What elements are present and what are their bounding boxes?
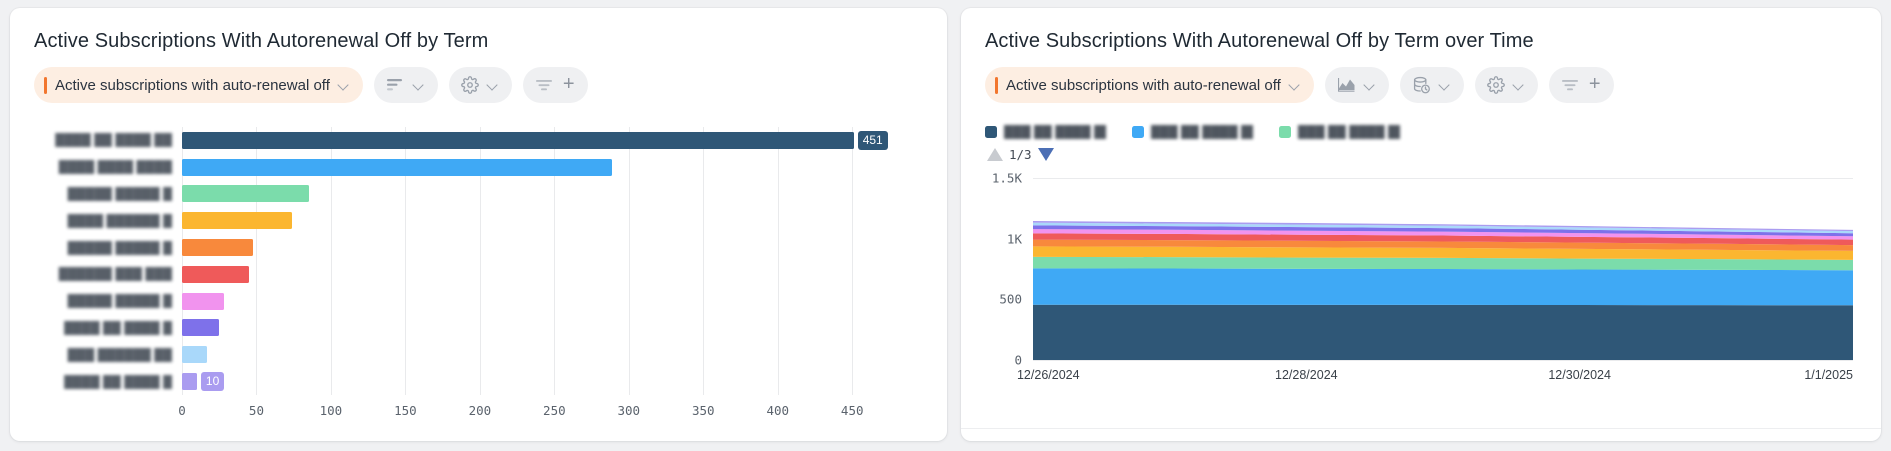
bar[interactable] — [182, 212, 292, 229]
page-title: Active Subscriptions With Autorenewal Of… — [10, 8, 947, 53]
bar[interactable] — [182, 266, 249, 283]
card-divider — [961, 428, 1881, 429]
plus-icon: + — [563, 74, 575, 94]
triangle-down-icon[interactable] — [1038, 148, 1054, 161]
bar-category-label: ██████ ███ ███ — [42, 267, 172, 281]
chevron-down-icon — [338, 79, 350, 91]
x-axis-tick-label: 250 — [543, 403, 566, 418]
dashboard-root: Active Subscriptions With Autorenewal Of… — [0, 0, 1891, 451]
bar[interactable] — [182, 159, 612, 176]
legend-item[interactable]: ███ ██ ████ ███ — [985, 125, 1106, 139]
legend-swatch — [985, 126, 997, 138]
area-chart-card: Active Subscriptions With Autorenewal Of… — [961, 8, 1881, 441]
area-chart-plot-area: 05001K1.5K — [1033, 178, 1853, 360]
x-axis-tick-label: 12/28/2024 — [1275, 368, 1338, 382]
metric-selector[interactable]: Active subscriptions with auto-renewal o… — [34, 67, 363, 103]
bar-row[interactable]: █████ █████ █ — [182, 181, 882, 208]
bar-category-label: ████ ██ ████ █ — [42, 375, 172, 389]
bar[interactable] — [182, 293, 224, 310]
plus-icon: + — [1589, 74, 1601, 94]
filter-icon — [535, 78, 553, 92]
bar[interactable] — [182, 185, 309, 202]
x-axis-tick-label: 350 — [692, 403, 715, 418]
chevron-down-icon — [1289, 79, 1301, 91]
bar-row[interactable]: █████ █████ █ — [182, 288, 882, 315]
y-axis-tick-label: 0 — [1014, 353, 1022, 368]
bar-value-label: 10 — [201, 372, 224, 391]
bar-chart-x-axis: 050100150200250300350400450 — [182, 403, 882, 425]
bar[interactable] — [182, 373, 197, 390]
x-axis-tick-label: 0 — [178, 403, 186, 418]
chevron-down-icon — [413, 79, 425, 91]
bar-category-label: █████ █████ █ — [42, 187, 172, 201]
x-axis-tick-label: 300 — [618, 403, 641, 418]
gear-icon — [1487, 76, 1505, 94]
bar-category-label: ████ ██████ █ — [42, 214, 172, 228]
bar-category-label: ████ ████ ████ — [42, 160, 172, 174]
add-filter-button[interactable]: + — [1549, 67, 1614, 103]
legend-label: ███ ██ ████ ███ — [1004, 125, 1106, 139]
chevron-down-icon — [1364, 79, 1376, 91]
legend-swatch — [1279, 126, 1291, 138]
area-chart-x-axis: 12/26/202412/28/202412/30/20241/1/2025 — [1033, 368, 1853, 390]
chart-type-selector[interactable] — [1325, 67, 1389, 103]
gear-icon — [461, 76, 479, 94]
area-series-series-2[interactable] — [1033, 268, 1853, 305]
legend-label: ███ ██ ████ ███ — [1151, 125, 1253, 139]
bar-category-label: █████ █████ █ — [42, 241, 172, 255]
database-clock-icon — [1412, 76, 1431, 95]
chevron-down-icon — [1513, 79, 1525, 91]
metric-label: Active subscriptions with auto-renewal o… — [1006, 77, 1281, 94]
chevron-down-icon — [1439, 79, 1451, 91]
time-grain-selector[interactable] — [1400, 67, 1464, 103]
x-axis-tick-label: 1/1/2025 — [1804, 368, 1853, 382]
bar-chart-plot-area: ████ ██ ████ ██451████ ████ █████████ ██… — [182, 127, 882, 395]
bar-row[interactable]: ████ ██ ████ ██451 — [182, 127, 882, 154]
y-axis-tick-label: 1.5K — [992, 171, 1022, 186]
bar-chart-card: Active Subscriptions With Autorenewal Of… — [10, 8, 947, 441]
metric-selector[interactable]: Active subscriptions with auto-renewal o… — [985, 67, 1314, 103]
area-series-series-1[interactable] — [1033, 305, 1853, 360]
bar-chart: ████ ██ ████ ██451████ ████ █████████ ██… — [10, 119, 947, 419]
chevron-down-icon — [487, 79, 499, 91]
bar[interactable] — [182, 319, 219, 336]
bar-row[interactable]: ████ ██████ █ — [182, 207, 882, 234]
x-axis-tick-label: 50 — [249, 403, 264, 418]
x-axis-tick-label: 150 — [394, 403, 417, 418]
triangle-up-icon[interactable] — [987, 148, 1003, 161]
filter-icon — [1561, 78, 1579, 92]
bar-row[interactable]: █████ █████ █ — [182, 234, 882, 261]
bar[interactable] — [182, 132, 854, 149]
add-filter-button[interactable]: + — [523, 67, 588, 103]
bar-category-label: █████ █████ █ — [42, 294, 172, 308]
chart-type-selector[interactable] — [374, 67, 438, 103]
bar[interactable] — [182, 239, 253, 256]
bar-category-label: ████ ██ ████ █ — [42, 321, 172, 335]
area-chart: 05001K1.5K 12/26/202412/28/202412/30/202… — [961, 170, 1881, 400]
legend-label: ███ ██ ████ ███ — [1298, 125, 1400, 139]
bar-row[interactable]: ████ ██ ████ █ — [182, 315, 882, 342]
gridline: 0 — [1033, 360, 1853, 361]
bar-row[interactable]: ████ ████ ████ — [182, 154, 882, 181]
x-axis-tick-label: 12/30/2024 — [1548, 368, 1611, 382]
pager-count: 1/3 — [1009, 147, 1032, 162]
legend-pager: 1/3 — [961, 139, 1881, 162]
bar-category-label: ████ ██ ████ ██ — [42, 133, 172, 147]
bar[interactable] — [182, 346, 207, 363]
legend-swatch — [1132, 126, 1144, 138]
bar-row[interactable]: ██████ ███ ███ — [182, 261, 882, 288]
left-toolbar: Active subscriptions with auto-renewal o… — [10, 53, 947, 103]
bar-chart-rows: ████ ██ ████ ██451████ ████ █████████ ██… — [182, 127, 882, 395]
x-axis-tick-label: 450 — [841, 403, 864, 418]
x-axis-tick-label: 100 — [320, 403, 343, 418]
metric-label: Active subscriptions with auto-renewal o… — [55, 77, 330, 94]
bar-row[interactable]: ███ ██████ ██ — [182, 341, 882, 368]
x-axis-tick-label: 12/26/2024 — [1017, 368, 1080, 382]
legend-item[interactable]: ███ ██ ████ ███ — [1279, 125, 1400, 139]
chart-legend: ███ ██ ████ ██████ ██ ████ ██████ ██ ███… — [961, 103, 1881, 139]
bar-value-label: 451 — [858, 131, 888, 150]
right-toolbar: Active subscriptions with auto-renewal o… — [961, 53, 1881, 103]
metric-color-marker — [44, 77, 47, 94]
page-title: Active Subscriptions With Autorenewal Of… — [961, 8, 1881, 53]
y-axis-tick-label: 1K — [1007, 231, 1022, 246]
x-axis-tick-label: 400 — [766, 403, 789, 418]
area-chart-series — [1033, 178, 1853, 360]
bar-row[interactable]: ████ ██ ████ █10 — [182, 368, 882, 395]
chart-settings-button[interactable] — [1475, 67, 1538, 103]
y-axis-tick-label: 500 — [999, 292, 1022, 307]
legend-item[interactable]: ███ ██ ████ ███ — [1132, 125, 1253, 139]
bar-chart-icon — [386, 78, 405, 93]
metric-color-marker — [995, 77, 998, 94]
bar-category-label: ███ ██████ ██ — [42, 348, 172, 362]
x-axis-tick-label: 200 — [469, 403, 492, 418]
chart-settings-button[interactable] — [449, 67, 512, 103]
area-chart-icon — [1337, 77, 1356, 93]
